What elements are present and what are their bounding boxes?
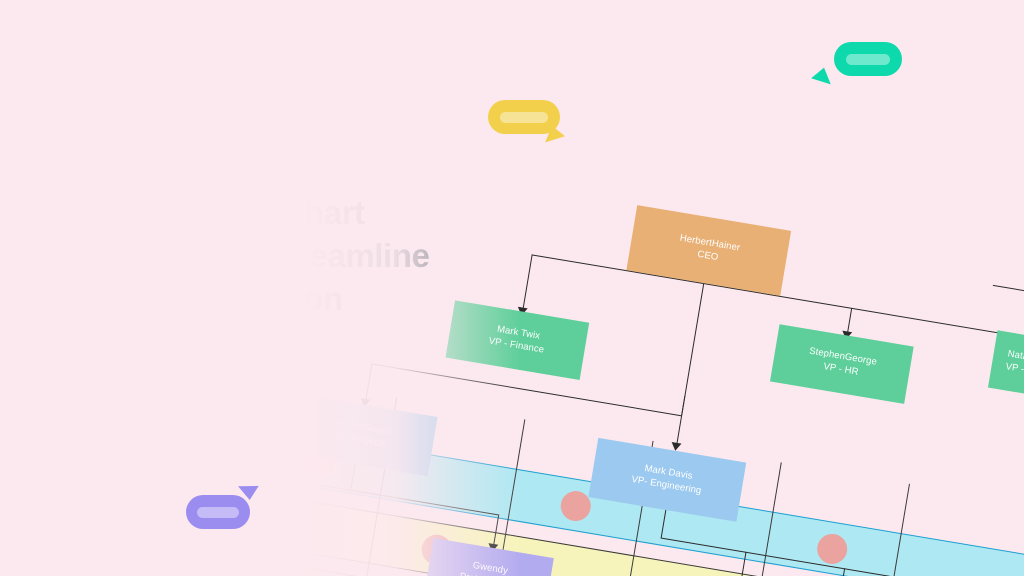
connector-line (676, 283, 705, 449)
org-node-role: VP - Ma (1004, 361, 1024, 379)
connector-line (365, 363, 373, 403)
chat-bubble-yellow-wrap (488, 100, 560, 134)
connector-line (522, 254, 533, 311)
chat-bubble-yellow (488, 100, 560, 134)
chat-bubble-bar (846, 54, 890, 65)
chat-bubble-teal (834, 42, 902, 76)
org-node-vp-marketing[interactable]: Natalia VP - Ma (988, 330, 1024, 410)
chat-bubble-teal-wrap (834, 42, 902, 76)
org-node-vp-finance[interactable]: Mark Twix VP - Finance (445, 300, 589, 380)
chat-bubble-purple (186, 495, 250, 529)
chat-bubble-purple-wrap (186, 495, 250, 529)
connector-line (371, 363, 681, 416)
org-node-ceo[interactable]: HerbertHainer CEO (626, 205, 791, 296)
org-chart-diagram: HerbertHainer CEO StephenGeorge VP - HR … (0, 0, 1024, 576)
org-node-role: CEO (696, 249, 719, 265)
chat-bubble-bar (197, 507, 239, 518)
org-node-vp-hr[interactable]: StephenGeorge VP - HR (770, 324, 914, 404)
connector-line (993, 285, 1024, 297)
connector-line (681, 395, 686, 415)
chat-bubble-bar (500, 112, 548, 123)
